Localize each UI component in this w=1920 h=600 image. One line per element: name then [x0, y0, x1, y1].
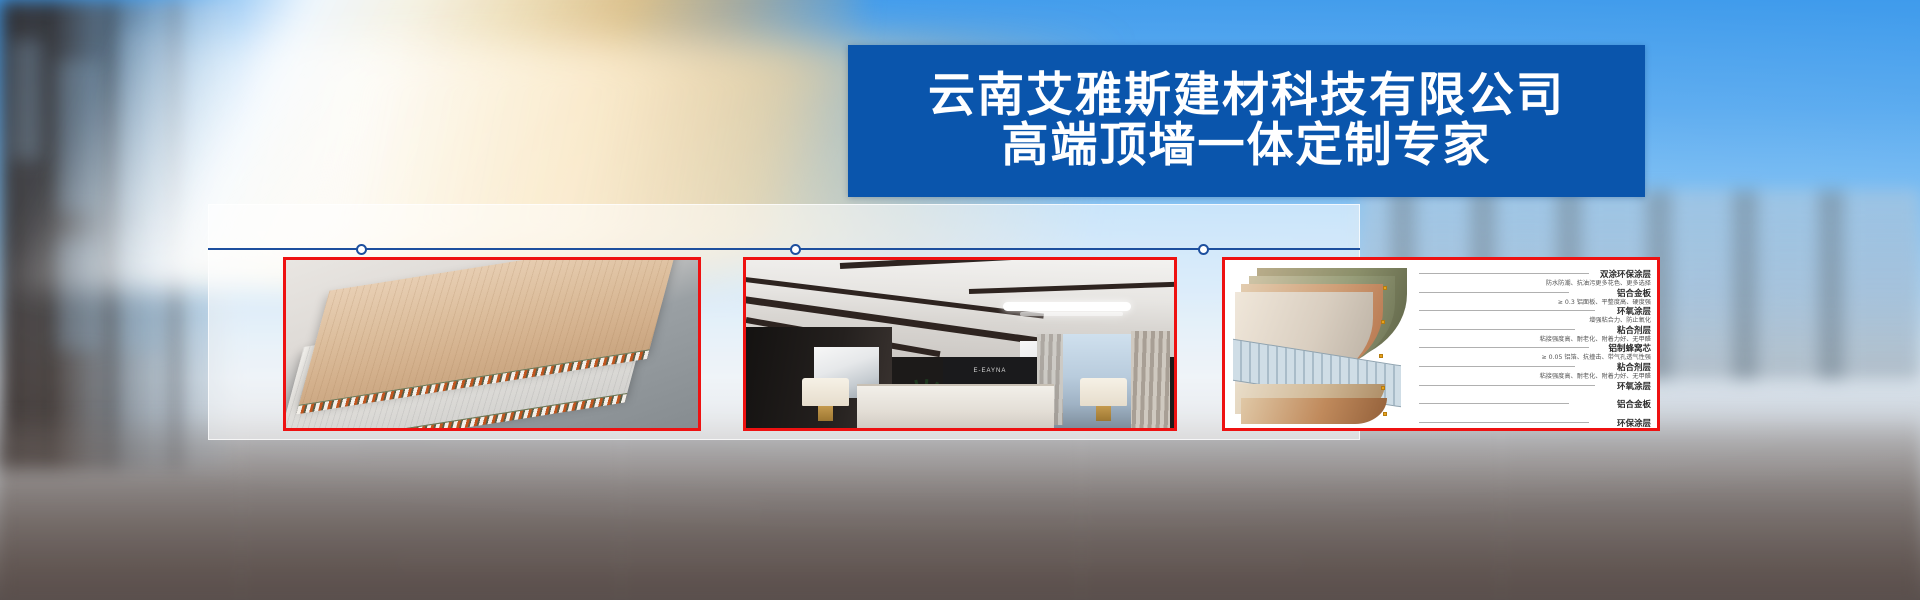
- gallery-selection-handle-3[interactable]: [1198, 244, 1209, 255]
- layer-leader-line: [1419, 403, 1569, 404]
- layer-leader-line: [1419, 347, 1589, 348]
- layer-label-row: 粘合剂层粘接强度高、耐老化、附着力好、无甲醛: [1419, 324, 1651, 343]
- layer-leader-line: [1419, 329, 1575, 330]
- panel-2-scene: E-EAYNA: [746, 260, 1174, 428]
- gallery-selection-handle-1[interactable]: [356, 244, 367, 255]
- layer-leader-line: [1419, 422, 1589, 423]
- layer-label-row: 环氧涂层增强粘合力、防止氧化: [1419, 305, 1651, 324]
- layer-label-row: 粘合剂层粘接强度高、耐老化、附着力好、无甲醛: [1419, 361, 1651, 380]
- table-lamp-left: [802, 378, 849, 422]
- layer-title: 环保涂层: [1617, 417, 1651, 429]
- brand-plaque-text: E-EAYNA: [974, 368, 1007, 374]
- layer-label-row: 铝合金板: [1419, 398, 1651, 417]
- layer-title: 环氧涂层: [1617, 380, 1651, 392]
- headline-line-1: 云南艾雅斯建材科技有限公司: [928, 72, 1565, 120]
- layer-label-row: 铝合金板≥ 0.3 铝面板、平整度高、硬度强: [1419, 287, 1651, 306]
- layer-label-row: 双涂环保涂层防水防潮、抗油污更多花色、更多选择: [1419, 268, 1651, 287]
- table-lamp-right: [1080, 378, 1127, 422]
- gallery-panel-layer-diagram[interactable]: 双涂环保涂层防水防潮、抗油污更多花色、更多选择铝合金板≥ 0.3 铝面板、平整度…: [1222, 257, 1660, 431]
- layer-stack-illustration: [1231, 266, 1421, 426]
- headline-plate: 云南艾雅斯建材科技有限公司 高端顶墙一体定制专家: [848, 45, 1645, 197]
- layer-label-row: 铝制蜂窝芯≥ 0.05 铝箔、抗撞击、带气孔透气性强: [1419, 342, 1651, 361]
- layer-label-list: 双涂环保涂层防水防潮、抗油污更多花色、更多选择铝合金板≥ 0.3 铝面板、平整度…: [1419, 268, 1651, 431]
- gallery-selection-handle-2[interactable]: [790, 244, 801, 255]
- layer-label-row: 环保涂层: [1419, 417, 1651, 431]
- gallery-panel-interior-render[interactable]: E-EAYNA: [743, 257, 1177, 431]
- gallery-selection-rule: [208, 248, 1360, 250]
- layer-leader-line: [1419, 366, 1575, 367]
- headline-line-2: 高端顶墙一体定制专家: [1002, 122, 1492, 170]
- layer-label-row: 环氧涂层: [1419, 380, 1651, 399]
- reception-desk: [857, 384, 1054, 428]
- gallery-panel-honeycomb-photo[interactable]: [283, 257, 701, 431]
- layer-leader-line: [1419, 273, 1589, 274]
- layer-leader-line: [1419, 385, 1595, 386]
- banner-stage: 云南艾雅斯建材科技有限公司 高端顶墙一体定制专家: [0, 0, 1920, 600]
- panel-3-canvas: 双涂环保涂层防水防潮、抗油污更多花色、更多选择铝合金板≥ 0.3 铝面板、平整度…: [1225, 260, 1657, 428]
- curtain-right: [1131, 331, 1170, 428]
- layer-leader-line: [1419, 292, 1569, 293]
- layer-leader-line: [1419, 310, 1595, 311]
- brand-plaque: E-EAYNA: [943, 357, 1037, 384]
- layer-title: 铝合金板: [1617, 398, 1651, 410]
